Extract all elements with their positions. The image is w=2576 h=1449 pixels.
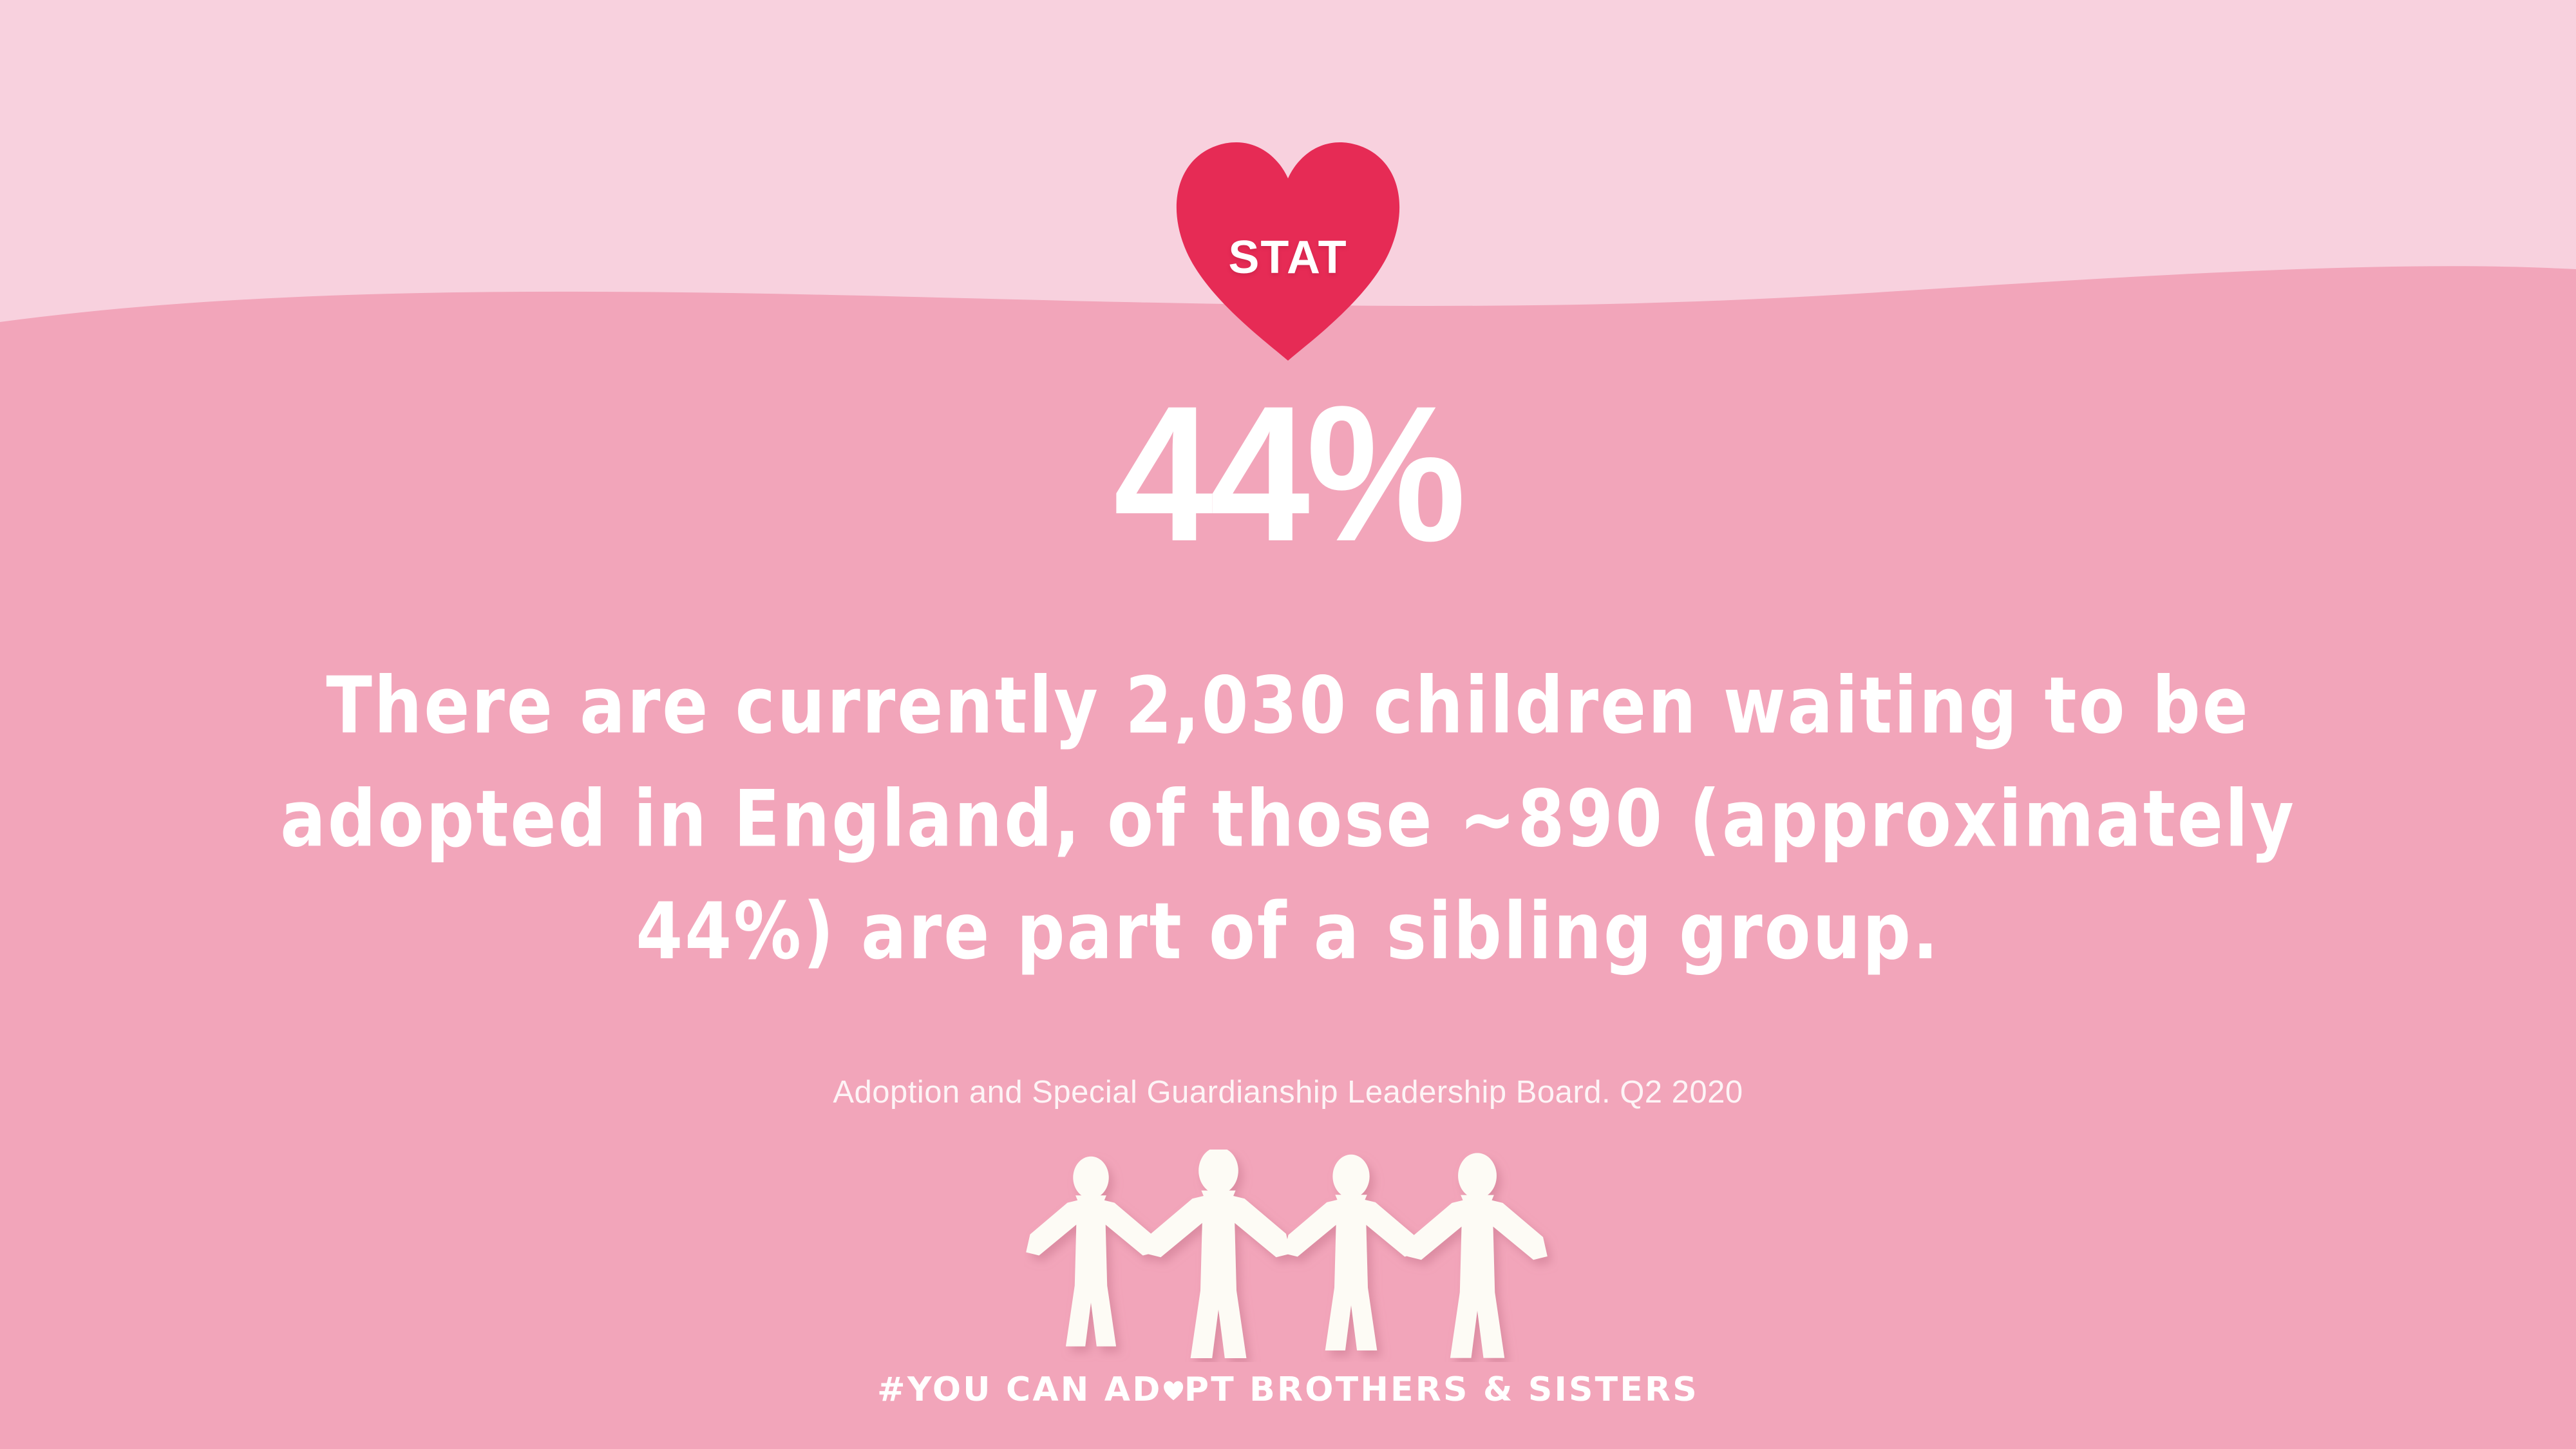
headline-statistic: 44% [90,377,2486,570]
paper-doll-chain-icon [1024,1150,1558,1362]
campaign-hashtag: #YOU CAN ADPT BROTHERS & SISTERS [0,1370,2576,1409]
heart-icon [1163,1381,1184,1401]
paper-doll-figure [1407,1153,1548,1358]
paper-doll-figure [1026,1157,1156,1347]
paper-doll-figure [1146,1150,1291,1358]
hashtag-part-1: #YOU CAN AD [877,1370,1162,1409]
statement-line-2: adopted in England, of those ~890 (appro… [120,763,2456,876]
statement-text: There are currently 2,030 children waiti… [120,650,2456,989]
stat-heart-badge: STAT [1169,138,1407,364]
stat-badge-label: STAT [1169,138,1407,364]
statement-line-3: 44%) are part of a sibling group. [120,876,2456,989]
statement-line-1: There are currently 2,030 children waiti… [120,650,2456,763]
stat-card-canvas: STAT 44% There are currently 2,030 child… [0,0,2576,1449]
paper-doll-figure [1284,1155,1418,1350]
hashtag-part-2: PT BROTHERS & SISTERS [1184,1370,1699,1409]
source-attribution: Adoption and Special Guardianship Leader… [0,1074,2576,1110]
